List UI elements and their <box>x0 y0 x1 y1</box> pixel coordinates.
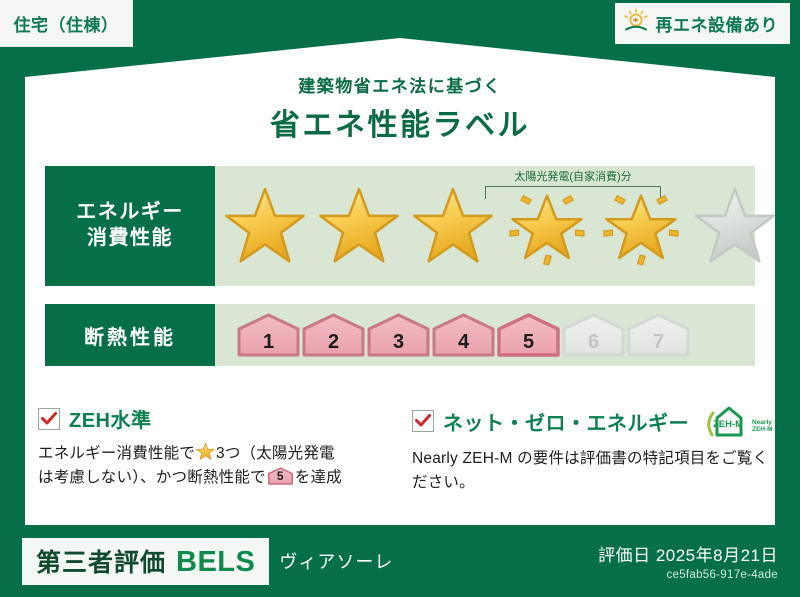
energy-label-line2: 消費性能 <box>87 226 173 252</box>
energy-label-line1: エネルギー <box>76 200 184 226</box>
insulation-grade-badge: 7 <box>627 313 690 357</box>
zeh-m-logo: ZEH-M Nearly ZEH-M <box>704 404 773 438</box>
zeh-desc-part3: を達成 <box>295 469 342 486</box>
bels-japanese-label: 第三者評価 <box>36 543 166 579</box>
insulation-grade-badge: 2 <box>302 313 365 357</box>
star-empty <box>693 184 777 268</box>
zeh-m-logo-sub2: ZEH-M <box>752 427 773 434</box>
star-filled <box>411 184 495 268</box>
dwelling-type-label: 住宅（住棟） <box>14 11 119 36</box>
building-name: ヴィアソーレ <box>279 548 393 574</box>
zeh-standard-description: エネルギー消費性能で3つ（太陽光発電は考慮しない）、かつ断熱性能で5を達成 <box>38 442 388 490</box>
zeh-desc-part1: エネルギー消費性能で <box>38 445 195 462</box>
zeh-desc-part2: は考慮しない）、かつ断熱性能で <box>38 469 266 486</box>
evaluation-id: ce5fab56-917e-4ade <box>598 569 778 581</box>
solar-annotation-text: 太陽光発電(自家消費)分 <box>485 168 661 184</box>
insulation-rating-area: 1 2 3 4 5 <box>215 304 755 366</box>
star-filled-solar <box>505 184 589 268</box>
zeh-standard-title: ZEH水準 <box>69 404 152 433</box>
zeh-standard-block: ZEH水準 エネルギー消費性能で3つ（太陽光発電は考慮しない）、かつ断熱性能で5… <box>38 404 388 490</box>
net-zero-energy-title: ネット・ゼロ・エネルギー <box>443 407 689 436</box>
zeh-standard-header: ZEH水準 <box>38 404 388 433</box>
star-filled <box>223 184 307 268</box>
energy-performance-label-box: エネルギー 消費性能 <box>45 166 215 286</box>
star-filled <box>317 184 401 268</box>
insulation-grade-number: 3 <box>367 331 430 354</box>
net-zero-energy-header: ネット・ゼロ・エネルギー ZEH-M Nearly ZEH-M <box>412 404 782 438</box>
check-icon <box>415 414 431 428</box>
insulation-grade-number: 1 <box>237 331 300 354</box>
insulation-grade-number: 7 <box>627 331 690 354</box>
evaluation-date: 評価日 2025年8月21日 <box>598 541 778 566</box>
check-icon <box>41 412 57 426</box>
checkbox-zeh-standard[interactable] <box>38 408 60 430</box>
insulation-performance-row: 断熱性能 1 2 3 <box>45 304 755 366</box>
net-zero-energy-block: ネット・ゼロ・エネルギー ZEH-M Nearly ZEH-M Nearly Z… <box>412 404 782 495</box>
footer-bar: 第三者評価 BELS ヴィアソーレ 評価日 2025年8月21日 ce5fab5… <box>0 525 800 597</box>
insulation-grade-badge: 3 <box>367 313 430 357</box>
insulation-grade-badge: 1 <box>237 313 300 357</box>
net-zero-energy-description: Nearly ZEH-M の要件は評価書の特記項目をご覧ください。 <box>412 447 782 495</box>
bels-badge: 第三者評価 BELS <box>22 538 269 585</box>
bels-logo-text: BELS <box>176 546 255 579</box>
dwelling-type-badge: 住宅（住棟） <box>0 0 133 47</box>
svg-text:ZEH-M: ZEH-M <box>713 419 743 430</box>
label-subtitle: 建築物省エネ法に基づく <box>0 72 800 97</box>
energy-performance-row: エネルギー 消費性能 太陽光発電(自家消費)分 <box>45 166 755 286</box>
inline-star-icon <box>196 442 215 461</box>
insulation-grade-badge: 5 <box>497 313 560 357</box>
energy-rating-area: 太陽光発電(自家消費)分 <box>215 166 755 286</box>
sun-icon <box>623 8 649 39</box>
insulation-grade-badge: 4 <box>432 313 495 357</box>
inline-grade-badge: 5 <box>268 466 293 486</box>
page-title: 省エネ性能ラベル <box>0 100 800 144</box>
checkbox-net-zero-energy[interactable] <box>412 410 434 432</box>
insulation-grade-list: 1 2 3 4 5 <box>237 313 690 357</box>
zeh-m-house-icon: ZEH-M <box>704 404 750 438</box>
insulation-grade-badge: 6 <box>562 313 625 357</box>
renewable-equipment-label: 再エネ設備あり <box>656 11 779 36</box>
renewable-equipment-badge: 再エネ設備あり <box>615 3 791 44</box>
inline-grade-number: 5 <box>268 467 293 486</box>
evaluation-info: 評価日 2025年8月21日 ce5fab56-917e-4ade <box>598 541 778 581</box>
insulation-grade-number: 4 <box>432 331 495 354</box>
zeh-desc-star-count: 3つ（太陽光発電 <box>216 445 335 462</box>
insulation-grade-number: 6 <box>562 331 625 354</box>
insulation-performance-label-box: 断熱性能 <box>45 304 215 366</box>
insulation-label: 断熱性能 <box>84 321 176 350</box>
star-rating <box>223 184 777 268</box>
star-filled-solar <box>599 184 683 268</box>
insulation-grade-number: 2 <box>302 331 365 354</box>
insulation-grade-number: 5 <box>497 331 560 354</box>
energy-performance-label: 住宅（住棟） 再エネ設備あり 建築物省エネ法に基づく 省エネ性能ラベル <box>0 0 800 597</box>
